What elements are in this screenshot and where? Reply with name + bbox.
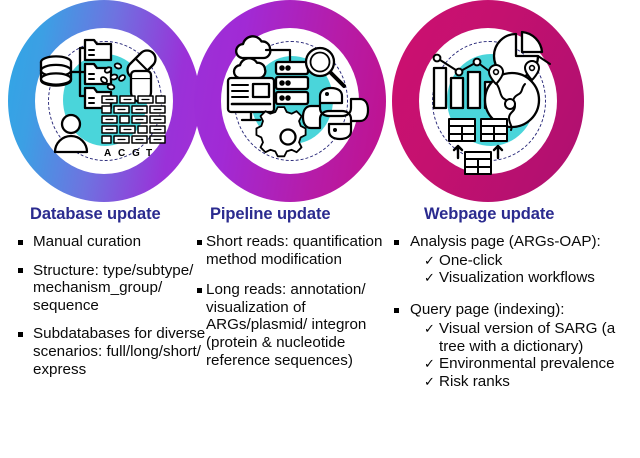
check-text: Environmental prevalence: [439, 355, 640, 373]
webpage-bullet-list: Analysis page (ARGs-OAP): ✓ One-click ✓ …: [392, 233, 640, 391]
square-bullet-icon: [18, 240, 23, 245]
svg-text:C: C: [118, 148, 125, 159]
dna-sequence-acgt-icon: [102, 96, 165, 143]
list-item: Analysis page (ARGs-OAP): ✓ One-click ✓ …: [392, 233, 640, 287]
check-list-item: ✓ Environmental prevalence: [424, 355, 640, 373]
bullet-text: Long reads: annotation/ visualization of…: [206, 281, 386, 369]
check-mark-icon: ✓: [424, 269, 435, 287]
list-item: Long reads: annotation/ visualization of…: [196, 281, 386, 369]
check-mark-icon: ✓: [424, 252, 435, 270]
three-circle-graphic: A C G T: [0, 0, 640, 205]
square-bullet-icon: [197, 240, 202, 245]
square-bullet-icon: [197, 288, 202, 293]
check-list-item: ✓ Risk ranks: [424, 373, 640, 391]
svg-text:A: A: [104, 148, 111, 159]
text-columns: Database update Manual curation Structur…: [0, 205, 640, 458]
square-bullet-icon: [394, 240, 399, 245]
square-bullet-icon: [18, 268, 23, 273]
server-rack-icon: [276, 62, 308, 104]
square-bullet-icon: [394, 308, 399, 313]
list-item: Structure: type/subtype/ mechanism_group…: [18, 262, 210, 315]
database-update-circle: A C G T: [8, 0, 200, 202]
check-sublist: ✓ One-click ✓ Visualization workflows: [410, 252, 640, 288]
square-bullet-icon: [18, 332, 23, 337]
check-text: Visual version of SARG (a tree with a di…: [439, 320, 640, 356]
database-cylinder-icon: [41, 56, 71, 85]
webpage-update-circle: [392, 0, 584, 202]
bullet-text: Structure: type/subtype/ mechanism_group…: [33, 262, 210, 315]
list-item: Short reads: quantification method modif…: [196, 233, 386, 268]
column-webpage-update: Webpage update Analysis page (ARGs-OAP):…: [392, 205, 640, 401]
check-sublist: ✓ Visual version of SARG (a tree with a …: [410, 320, 640, 391]
gear-cog-icon: [256, 107, 305, 156]
check-mark-icon: ✓: [424, 373, 435, 391]
heading-webpage-update: Webpage update: [392, 205, 640, 224]
list-item: Query page (indexing): ✓ Visual version …: [392, 301, 640, 391]
check-list-item: ✓ Visual version of SARG (a tree with a …: [424, 320, 640, 356]
user-person-icon: [55, 115, 87, 152]
bullet-text: Manual curation: [33, 233, 210, 251]
column-database-update: Database update Manual curation Structur…: [18, 205, 210, 389]
check-list-item: ✓ One-click: [424, 252, 640, 270]
pipeline-update-circle: [194, 0, 386, 202]
bullet-text: Analysis page (ARGs-OAP):: [410, 233, 640, 251]
bullet-text: Query page (indexing):: [410, 301, 640, 319]
database-bullet-list: Manual curation Structure: type/subtype/…: [18, 233, 210, 378]
check-text: One-click: [439, 252, 640, 270]
list-item: Subdatabases for diverse scenarios: full…: [18, 325, 210, 378]
heading-database-update: Database update: [18, 205, 210, 224]
check-mark-icon: ✓: [424, 355, 435, 373]
bullet-text: Short reads: quantification method modif…: [206, 233, 386, 268]
database-icon-group: A C G T: [8, 0, 200, 202]
svg-text:G: G: [132, 148, 140, 159]
pipeline-bullet-list: Short reads: quantification method modif…: [196, 233, 386, 369]
magnifier-search-icon: [306, 48, 344, 86]
list-item: Manual curation: [18, 233, 210, 251]
check-mark-icon: ✓: [424, 320, 435, 338]
webpage-icon-group: [392, 0, 584, 202]
pipeline-icon-group: [194, 0, 386, 202]
column-pipeline-update: Pipeline update Short reads: quantificat…: [196, 205, 386, 382]
check-text: Visualization workflows: [439, 269, 640, 287]
slide-root: A C G T: [0, 0, 640, 458]
bullet-text: Subdatabases for diverse scenarios: full…: [33, 325, 210, 378]
check-text: Risk ranks: [439, 373, 640, 391]
heading-pipeline-update: Pipeline update: [196, 205, 386, 224]
check-list-item: ✓ Visualization workflows: [424, 269, 640, 287]
svg-text:T: T: [146, 148, 152, 159]
python-logo-icon: [303, 88, 368, 139]
